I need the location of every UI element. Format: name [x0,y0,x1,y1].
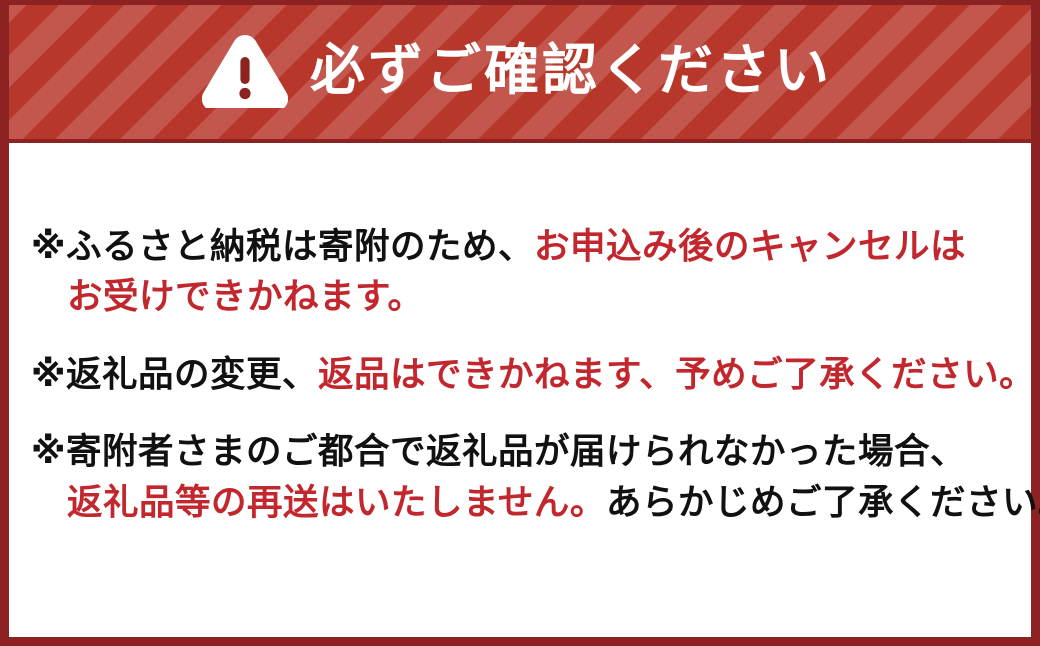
notice-text: あらかじめご了承ください。 [606,482,1040,522]
notice-list: ※ふるさと納税は寄附のため、お申込み後のキャンセルはお受けできかねます。※返礼品… [9,143,1031,633]
notice-line: 返礼品等の再送はいたしません。あらかじめご了承ください。 [31,477,1017,527]
notice-line: ※返礼品の変更、返品はできかねます、予めご了承ください。 [31,349,1017,399]
notice-text: ※返礼品の変更、 [31,354,318,394]
notice-item: ※返礼品の変更、返品はできかねます、予めご了承ください。 [9,349,1031,399]
header-inner: 必ずご確認ください [202,34,832,108]
notice-text: ※ふるさと納税は寄附のため、 [31,226,534,266]
notice-item: ※ふるさと納税は寄附のため、お申込み後のキャンセルはお受けできかねます。 [9,221,1031,322]
notice-text-emphasis: 返礼品等の再送はいたしません。 [67,482,606,522]
page-title: 必ずご確認ください [310,43,832,98]
notice-header-banner: 必ずご確認ください [9,0,1031,143]
notice-text-emphasis: お申込み後のキャンセルは [534,226,966,266]
notice-line: お受けできかねます。 [31,271,1017,321]
notice-item: ※寄附者さまのご都合で返礼品が届けられなかった場合、返礼品等の再送はいたしません… [9,426,1031,527]
notice-line: ※寄附者さまのご都合で返礼品が届けられなかった場合、 [31,426,1017,476]
warning-triangle-icon [202,34,288,108]
notice-line: ※ふるさと納税は寄附のため、お申込み後のキャンセルは [31,221,1017,271]
notice-text: ※寄附者さまのご都合で返礼品が届けられなかった場合、 [31,431,966,471]
notice-text-emphasis: 返品はできかねます、予めご了承ください。 [318,354,1035,394]
notice-text-emphasis: お受けできかねます。 [67,276,423,316]
notice-card: 必ずご確認ください ※ふるさと納税は寄附のため、お申込み後のキャンセルはお受けで… [0,0,1040,646]
